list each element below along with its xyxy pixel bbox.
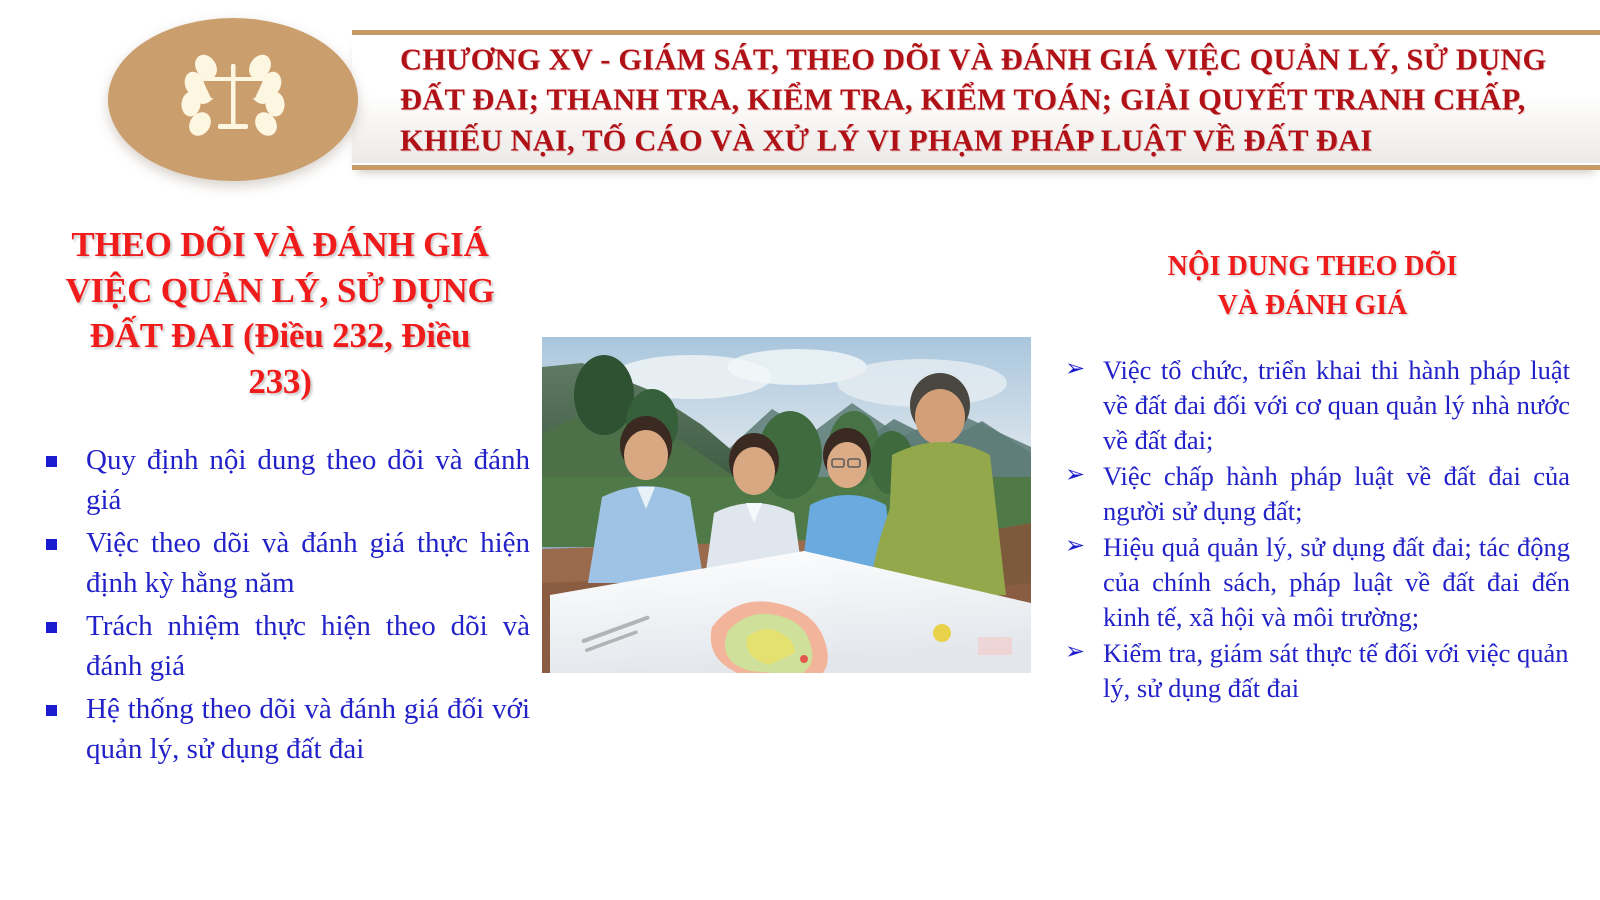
emblem-circle (108, 18, 358, 181)
list-item-text: Kiểm tra, giám sát thực tế đối với việc … (1103, 638, 1569, 703)
list-item-text: Việc chấp hành pháp luật về đất đai của … (1103, 461, 1570, 526)
left-column: THEO DÕI VÀ ĐÁNH GIÁ VIỆC QUẢN LÝ, SỬ DỤ… (30, 222, 530, 772)
list-item: Hệ thống theo dõi và đánh giá đối với qu… (30, 689, 530, 769)
chapter-title: CHƯƠNG XV - GIÁM SÁT, THEO DÕI VÀ ĐÁNH G… (400, 40, 1550, 161)
arrow-bullet-icon: ➢ (1065, 354, 1085, 386)
list-item: Trách nhiệm thực hiện theo dõi và đánh g… (30, 606, 530, 686)
list-item-text: Hiệu quả quản lý, sử dụng đất đai; tác đ… (1103, 532, 1570, 632)
slide: CHƯƠNG XV - GIÁM SÁT, THEO DÕI VÀ ĐÁNH G… (0, 0, 1600, 900)
square-bullet-icon (46, 622, 57, 633)
list-item-text: Việc tổ chức, triển khai thi hành pháp l… (1103, 355, 1570, 455)
photo-illustration (542, 337, 1031, 673)
arrow-bullet-icon: ➢ (1065, 637, 1085, 669)
header-banner: CHƯƠNG XV - GIÁM SÁT, THEO DÕI VÀ ĐÁNH G… (352, 30, 1600, 170)
left-bullet-list: Quy định nội dung theo dõi và đánh giá V… (30, 440, 530, 769)
list-item: Việc theo dõi và đánh giá thực hiện định… (30, 523, 530, 603)
scales-of-justice-laurel-icon (177, 48, 289, 152)
right-section-heading: NỘI DUNG THEO DÕI VÀ ĐÁNH GIÁ (1055, 248, 1570, 325)
field-inspection-photo (542, 337, 1031, 673)
square-bullet-icon (46, 456, 57, 467)
arrow-bullet-icon: ➢ (1065, 460, 1085, 492)
list-item-text: Quy định nội dung theo dõi và đánh giá (86, 444, 530, 516)
square-bullet-icon (46, 539, 57, 550)
arrow-bullet-icon: ➢ (1065, 531, 1085, 563)
list-item: ➢ Việc chấp hành pháp luật về đất đai củ… (1055, 459, 1570, 529)
right-bullet-list: ➢ Việc tổ chức, triển khai thi hành pháp… (1055, 353, 1570, 706)
list-item-text: Trách nhiệm thực hiện theo dõi và đánh g… (86, 610, 530, 682)
square-bullet-icon (46, 705, 57, 716)
list-item: Quy định nội dung theo dõi và đánh giá (30, 440, 530, 520)
list-item-text: Việc theo dõi và đánh giá thực hiện định… (86, 527, 530, 599)
list-item: ➢ Việc tổ chức, triển khai thi hành pháp… (1055, 353, 1570, 458)
list-item-text: Hệ thống theo dõi và đánh giá đối với qu… (86, 693, 530, 765)
list-item: ➢ Hiệu quả quản lý, sử dụng đất đai; tác… (1055, 530, 1570, 635)
list-item: ➢ Kiểm tra, giám sát thực tế đối với việ… (1055, 636, 1570, 706)
right-column: NỘI DUNG THEO DÕI VÀ ĐÁNH GIÁ ➢ Việc tổ … (1055, 248, 1570, 707)
left-section-heading: THEO DÕI VÀ ĐÁNH GIÁ VIỆC QUẢN LÝ, SỬ DỤ… (30, 222, 530, 404)
